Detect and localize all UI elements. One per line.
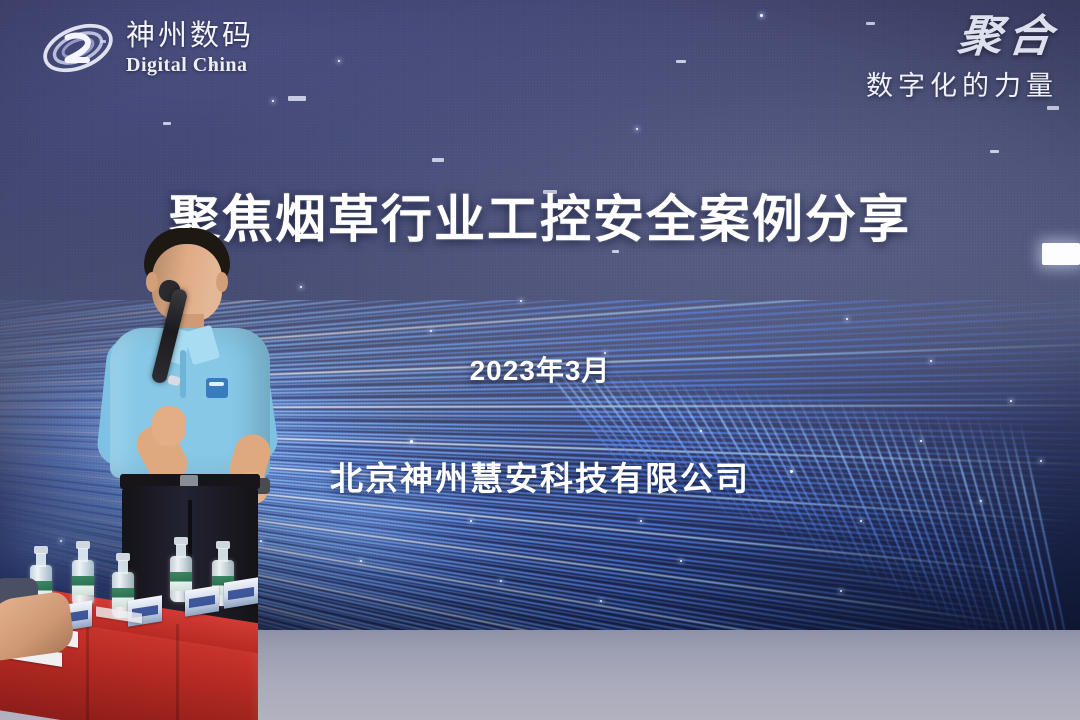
speaker-hand-left	[152, 406, 186, 446]
table-cloth-fold	[176, 624, 179, 720]
bottle-neck	[36, 553, 46, 567]
logo-name-en: Digital China	[126, 55, 254, 75]
logo-name-cn: 神州数码	[126, 22, 254, 51]
name-card	[185, 585, 219, 616]
event-brand-calligraphy: 聚合	[864, 16, 1060, 58]
bottle-neck	[176, 544, 186, 558]
digital-china-logo: 神州数码 Digital China	[40, 18, 254, 78]
wall-light-fixture	[1042, 243, 1080, 265]
speaker-ear-right	[216, 272, 228, 292]
bottle-neck	[78, 548, 88, 562]
digital-china-logo-text: 神州数码 Digital China	[126, 22, 254, 75]
bottle-neck	[118, 560, 128, 574]
table-cloth-fold	[86, 622, 89, 720]
conference-stage-photo: 神州数码 Digital China 聚合 数字化的力量 聚焦烟草行业工控安全案…	[0, 0, 1080, 720]
bottle-neck	[218, 548, 228, 562]
speaker-ear-left	[146, 272, 158, 292]
name-card-text-bar	[189, 595, 215, 608]
name-card	[224, 577, 258, 608]
speaker-chest-logo	[206, 378, 228, 398]
speaker-shirt-placket	[180, 350, 186, 398]
bottle-label	[170, 572, 192, 591]
bottle-body	[72, 560, 94, 606]
water-bottle	[72, 560, 94, 606]
event-brand-tagline: 数字化的力量	[866, 64, 1058, 103]
digital-china-swirl-icon	[40, 18, 116, 78]
event-brand: 聚合 数字化的力量	[866, 16, 1058, 103]
bottle-label	[72, 576, 94, 595]
speaker-chest-logo-detail	[209, 382, 224, 386]
name-card-text-bar	[228, 587, 254, 600]
